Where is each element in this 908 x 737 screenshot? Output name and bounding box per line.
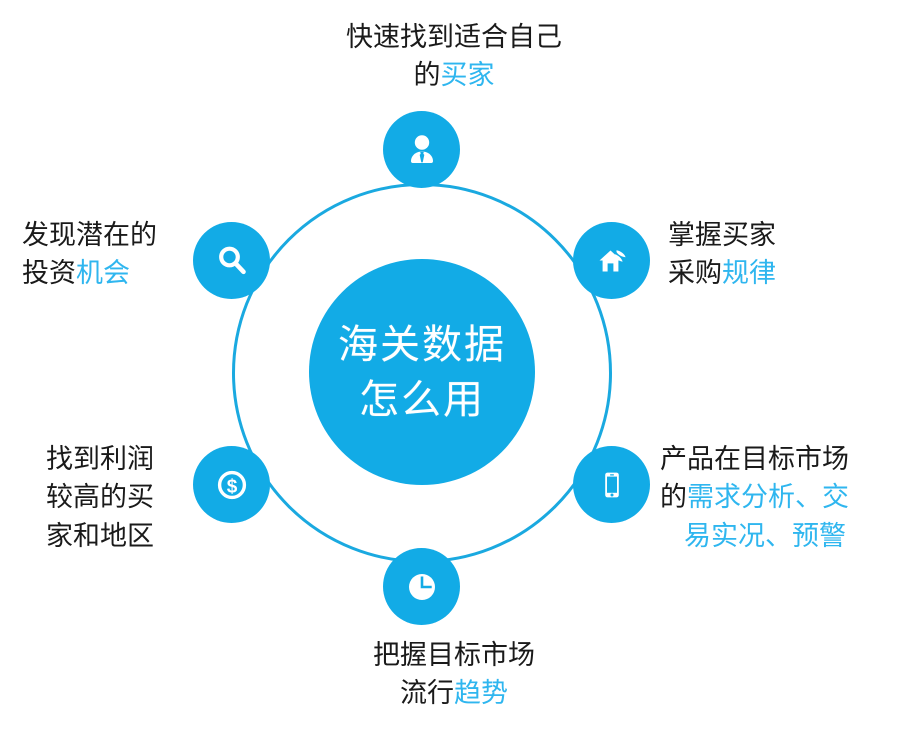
user-tie-icon [402, 130, 442, 170]
label-bottom-line-2: 流行趋势 [0, 674, 908, 712]
label-right-top-line-2: 采购规律 [668, 254, 898, 292]
label-bottom-line-2-black: 流行 [400, 678, 454, 708]
magnifier-icon [212, 241, 252, 281]
center-hub: 海关数据 怎么用 [309, 259, 535, 485]
label-right-bottom-line-2-black: 的 [660, 482, 687, 512]
smartphone-icon [592, 465, 632, 505]
label-bottom-line-1: 把握目标市场 [0, 636, 908, 674]
label-left-top-line-2-black: 投资 [22, 258, 76, 288]
label-left-bottom-line-3: 家和地区 [46, 517, 196, 555]
label-right-bottom-line-2-highlight: 需求分析、交 [687, 482, 849, 512]
label-top-line-2-black: 的 [414, 60, 441, 90]
label-top: 快速找到适合自己 的买家 [0, 18, 908, 95]
label-left-top-line-2-highlight: 机会 [76, 258, 130, 288]
label-left-bottom-line-1: 找到利润 [46, 440, 196, 478]
circular-infographic: 海关数据 怎么用 快速找到适合自己 的买家 发现潜在的 投资机会 [0, 0, 908, 737]
node-right-bottom[interactable] [573, 446, 650, 523]
dollar-coin-icon: $ [212, 465, 252, 505]
svg-text:$: $ [226, 476, 237, 497]
center-hub-line-1: 海关数据 [338, 317, 506, 372]
node-left-bottom[interactable]: $ [193, 446, 270, 523]
label-top-line-2: 的买家 [0, 56, 908, 94]
label-bottom: 把握目标市场 流行趋势 [0, 636, 908, 713]
node-right-top[interactable] [573, 222, 650, 299]
label-left-bottom: 找到利润 较高的买 家和地区 [46, 440, 196, 555]
center-hub-line-2: 怎么用 [359, 372, 485, 427]
label-left-top: 发现潜在的 投资机会 [22, 216, 192, 293]
label-right-bottom-line-1: 产品在目标市场 [660, 440, 908, 478]
node-top[interactable] [383, 111, 460, 188]
node-left-top[interactable] [193, 222, 270, 299]
label-left-top-line-1: 发现潜在的 [22, 216, 192, 254]
label-bottom-line-2-highlight: 趋势 [454, 678, 508, 708]
eco-house-icon [592, 241, 632, 281]
label-left-bottom-line-2: 较高的买 [46, 478, 196, 516]
label-right-top: 掌握买家 采购规律 [668, 216, 898, 293]
label-right-bottom-line-2: 的需求分析、交 [660, 478, 908, 516]
label-right-top-line-1: 掌握买家 [668, 216, 898, 254]
label-top-line-1: 快速找到适合自己 [0, 18, 908, 56]
label-right-top-line-2-black: 采购 [668, 258, 722, 288]
node-bottom[interactable] [383, 548, 460, 625]
label-top-line-2-highlight: 买家 [441, 60, 495, 90]
label-left-top-line-2: 投资机会 [22, 254, 192, 292]
label-right-bottom-line-3: 易实况、预警 [660, 517, 908, 555]
label-right-bottom: 产品在目标市场 的需求分析、交 易实况、预警 [660, 440, 908, 555]
label-right-top-line-2-highlight: 规律 [722, 258, 776, 288]
clock-icon [402, 567, 442, 607]
